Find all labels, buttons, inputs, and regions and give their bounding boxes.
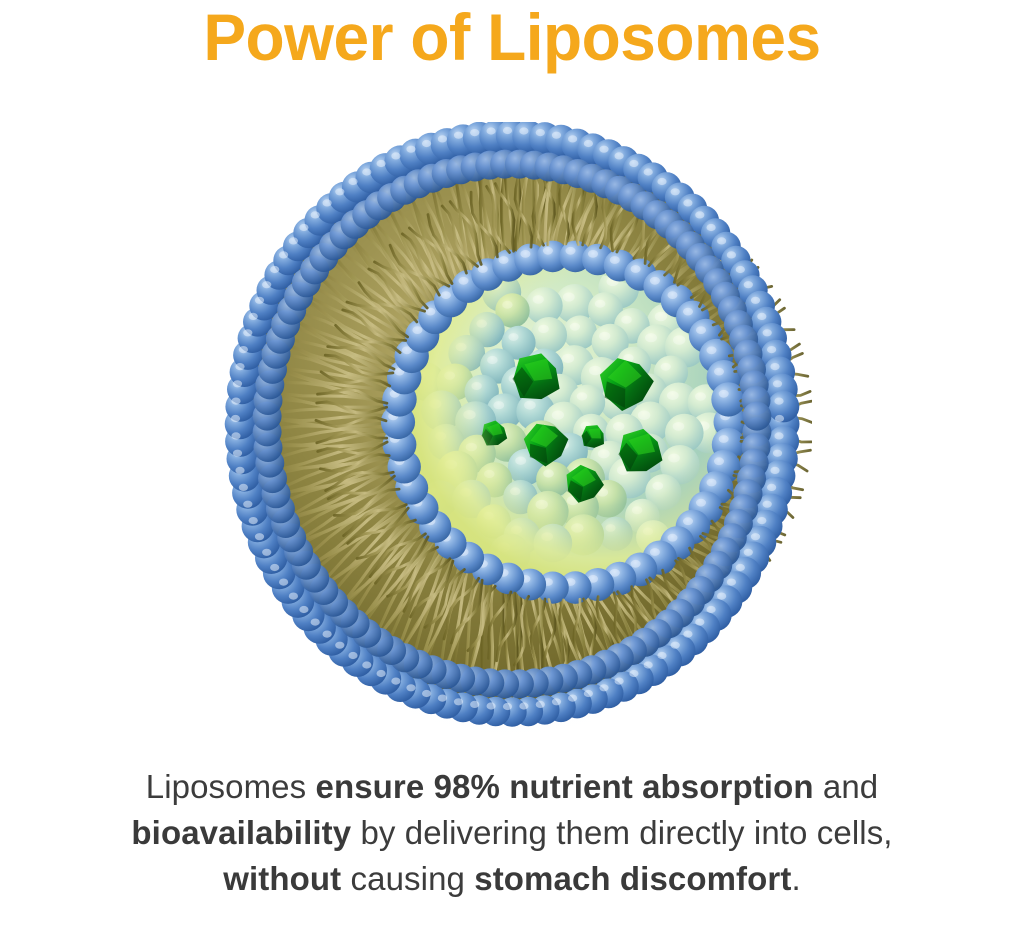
lipid-head-highlight (767, 346, 776, 353)
lipid-head-highlight (683, 199, 692, 206)
lipid-head-highlight (683, 308, 693, 316)
lipid-head-highlight (757, 313, 766, 320)
lipid-head-highlight (714, 368, 724, 376)
lipid-head-highlight (668, 534, 678, 542)
lipid-head-highlight (270, 266, 279, 273)
caption-seg: by delivering them directly into cells, (351, 814, 892, 851)
lipid-head-highlight (770, 363, 779, 370)
lipid-head-highlight (289, 593, 298, 600)
lipid-head-highlight (773, 450, 782, 457)
lipid-head-highlight (744, 281, 753, 288)
lipid-head-highlight (536, 129, 545, 136)
lipid-head-highlight (377, 160, 386, 167)
caption-line-3: without causing stomach discomfort. (0, 856, 1024, 902)
lipid-head-highlight (519, 127, 528, 134)
lipid-head-highlight (629, 670, 638, 677)
lipid-head-highlight (231, 398, 240, 405)
lipid-head-highlight (631, 560, 641, 568)
lipid-head-highlight (650, 277, 660, 285)
lipid-head-highlight (695, 211, 704, 218)
lipid-head-highlight (362, 168, 371, 175)
lipid-head-highlight (599, 684, 608, 691)
lipid-head-highlight (299, 224, 308, 231)
lipid-head-highlight (719, 390, 729, 398)
lipid-head-highlight (239, 346, 248, 353)
lipid-head-highlight (584, 140, 593, 147)
lipid-head-highlight (599, 146, 608, 153)
lipid-head-highlight (757, 517, 766, 524)
lipid-head-highlight (588, 250, 598, 258)
caption-block: Liposomes ensure 98% nutrient absorption… (0, 764, 1024, 902)
lipid-head-highlight (736, 564, 745, 571)
caption-seg-bold: ensure 98% nutrient absorption (316, 768, 814, 805)
lipid-head-highlight (438, 695, 447, 702)
caption-seg-bold: stomach discomfort (474, 860, 791, 897)
caption-seg: Liposomes (146, 768, 316, 805)
lipid-head-highlight (763, 329, 772, 336)
lipid-head-highlight (615, 152, 624, 159)
lipid-head-highlight (478, 265, 488, 273)
caption-line-2: bioavailability by delivering them direc… (0, 810, 1024, 856)
lipid-head-highlight (707, 224, 716, 231)
lipid-head-highlight (610, 256, 620, 264)
lipid-head-highlight (348, 178, 357, 185)
lipid-head-highlight (714, 457, 724, 465)
lipid-head-highlight (255, 297, 264, 304)
lipid-head-highlight (774, 398, 783, 405)
lipid-head-highlight (391, 678, 400, 685)
lipid-head-highlight (279, 251, 288, 258)
caption-seg-bold: without (223, 860, 341, 897)
lipid-head-highlight (270, 564, 279, 571)
lipid-head-highlight (311, 211, 320, 218)
lipid-head-highlight (770, 467, 779, 474)
lipid-head-highlight (362, 661, 371, 668)
lipid-head-highlight (454, 698, 463, 705)
lipid-head-highlight (503, 127, 512, 134)
lipid-head-highlight (644, 168, 653, 175)
lipid-head (742, 402, 771, 431)
lipid-head-highlight (454, 132, 463, 139)
lipid-head-highlight (391, 152, 400, 159)
lipid-head-highlight (696, 499, 706, 507)
lipid-head-highlight (233, 450, 242, 457)
lipid-head-highlight (239, 484, 248, 491)
lipid-head-highlight (279, 579, 288, 586)
lipid-head-highlight (568, 695, 577, 702)
caption-seg-bold: bioavailability (131, 814, 351, 851)
lipid-head-highlight (231, 432, 240, 439)
lipid-head-highlight (289, 237, 298, 244)
lipid-head-highlight (519, 702, 528, 709)
lipid-head-highlight (707, 346, 717, 354)
lipid-head-highlight (233, 380, 242, 387)
lipid-head-highlight (671, 642, 680, 649)
lipid-head-highlight (335, 188, 344, 195)
lipid-head-highlight (243, 501, 252, 508)
lipid-head-highlight (683, 631, 692, 638)
lipid-head-highlight (719, 435, 729, 443)
lipid-head-highlight (763, 501, 772, 508)
caption-seg: causing (341, 860, 474, 897)
lipid-head-highlight (348, 652, 357, 659)
caption-line-1: Liposomes ensure 98% nutrient absorption… (0, 764, 1024, 810)
lipid-head-highlight (727, 251, 736, 258)
lipid-head-highlight (751, 533, 760, 540)
lipid-head-highlight (727, 579, 736, 586)
lipid-head-highlight (406, 146, 415, 153)
lipid-head-highlight (696, 326, 706, 334)
lipid-head-highlight (695, 619, 704, 626)
lipid-head-highlight (717, 237, 726, 244)
lipid-head-highlight (422, 690, 431, 697)
caption-seg: . (791, 860, 800, 897)
lipid-head-highlight (459, 277, 469, 285)
lipid-head-highlight (255, 533, 264, 540)
lipid-head-highlight (249, 313, 258, 320)
lipid-head-highlight (299, 606, 308, 613)
lipid-head-highlight (487, 702, 496, 709)
lipid-head-highlight (249, 517, 258, 524)
lipid-head-highlight (438, 135, 447, 142)
lipid-head-highlight (323, 631, 332, 638)
lipid-head-highlight (566, 247, 576, 255)
lipid-head-highlight (615, 678, 624, 685)
lipid-head-highlight (671, 188, 680, 195)
lipid-head-highlight (503, 703, 512, 710)
lipid-head-highlight (470, 129, 479, 136)
lipid-head-highlight (773, 380, 782, 387)
lipid-head-highlight (774, 432, 783, 439)
lipid-head-highlight (552, 132, 561, 139)
lipid-head-highlight (243, 329, 252, 336)
lipid-head-highlight (412, 326, 422, 334)
lipid-head-highlight (568, 135, 577, 142)
lipid-head-highlight (717, 593, 726, 600)
lipid-head-highlight (751, 297, 760, 304)
lipid-head-highlight (323, 199, 332, 206)
lipid-head-highlight (231, 415, 240, 422)
page-title: Power of Liposomes (15, 0, 1008, 74)
lipid-head-highlight (499, 256, 509, 264)
lipid-head-highlight (543, 247, 553, 255)
lipid-head-highlight (668, 291, 678, 299)
liposome-illustration (212, 122, 812, 742)
lipid-head-highlight (657, 178, 666, 185)
lipid-head-highlight (536, 701, 545, 708)
lipid-head-highlight (520, 250, 530, 258)
lipid-head-highlight (235, 363, 244, 370)
lipid-head-highlight (422, 140, 431, 147)
lipid-head-highlight (629, 160, 638, 167)
lipid-head-highlight (262, 281, 271, 288)
lipid-head-highlight (335, 642, 344, 649)
lipid-head-highlight (406, 684, 415, 691)
lipid-head-highlight (487, 127, 496, 134)
lipid-head-highlight (736, 266, 745, 273)
lipid-head-highlight (744, 549, 753, 556)
lipid-head-highlight (767, 484, 776, 491)
lipid-head-highlight (650, 548, 660, 556)
caption-seg: and (814, 768, 879, 805)
lipid-head-highlight (235, 467, 244, 474)
lipid-head-highlight (707, 606, 716, 613)
lipid-head-highlight (707, 479, 717, 487)
lipid-head-highlight (683, 517, 693, 525)
lipid-head-highlight (644, 661, 653, 668)
lipid-head-highlight (470, 701, 479, 708)
lipid-head-highlight (441, 291, 451, 299)
lipid-head-highlight (311, 619, 320, 626)
lipid-head-highlight (377, 670, 386, 677)
lipid-head-highlight (552, 698, 561, 705)
lipid-head-highlight (631, 265, 641, 273)
lipid-head-highlight (262, 549, 271, 556)
lipid-head-highlight (657, 652, 666, 659)
lipid-head-highlight (775, 415, 784, 422)
lipid-head-highlight (584, 690, 593, 697)
liposome-diagram-svg (212, 122, 812, 742)
